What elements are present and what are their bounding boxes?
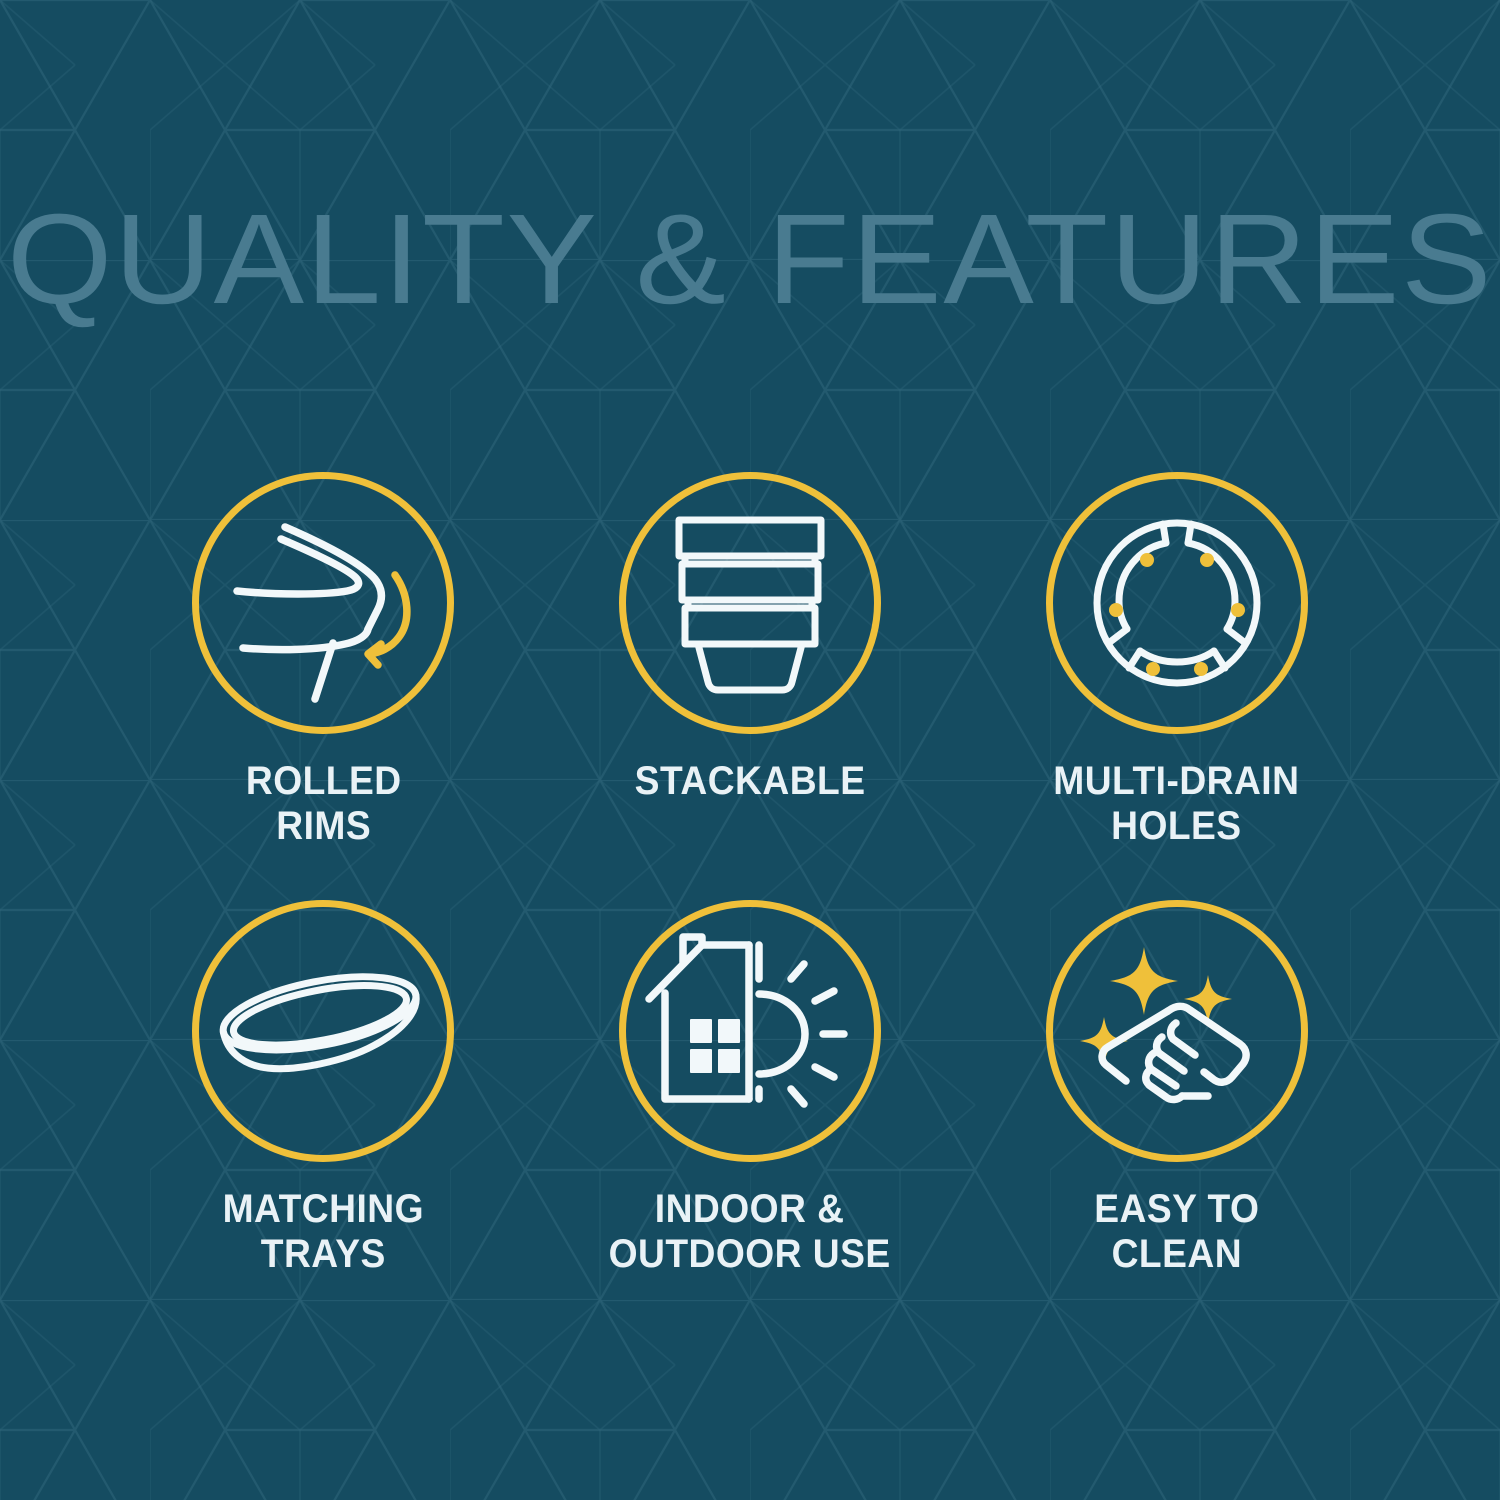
feature-ring-multi-drain-holes (1046, 472, 1308, 734)
feature-item-indoor-outdoor-use[interactable]: INDOOR & OUTDOOR USE (537, 900, 964, 1328)
feature-label-easy-to-clean: EASY TO CLEAN (1094, 1187, 1259, 1277)
feature-ring-indoor-outdoor-use (619, 900, 881, 1162)
stacked-pots-icon (650, 503, 850, 703)
feature-ring-easy-to-clean (1046, 900, 1308, 1162)
saucer-tray-icon (218, 931, 428, 1131)
feature-ring-stackable (619, 472, 881, 734)
feature-item-matching-trays[interactable]: MATCHING TRAYS (110, 900, 537, 1328)
feature-ring-matching-trays (192, 900, 454, 1162)
feature-item-easy-to-clean[interactable]: EASY TO CLEAN (963, 900, 1390, 1328)
feature-label-matching-trays: MATCHING TRAYS (223, 1187, 424, 1277)
title-block: QUALITY & FEATURES (0, 196, 1500, 324)
house-sun-icon (645, 931, 855, 1131)
feature-label-stackable: STACKABLE (635, 759, 866, 804)
wiping-hand-icon (1072, 931, 1282, 1131)
quality-and-features-infographic: QUALITY & FEATURES (0, 0, 1500, 1500)
page-title: QUALITY & FEATURES (0, 196, 1500, 324)
feature-label-multi-drain-holes: MULTI-DRAIN HOLES (1054, 759, 1300, 849)
feature-item-stackable[interactable]: STACKABLE (537, 472, 964, 900)
rolled-rim-icon (223, 503, 423, 703)
feature-item-multi-drain-holes[interactable]: MULTI-DRAIN HOLES (963, 472, 1390, 900)
feature-label-rolled-rims: ROLLED RIMS (245, 759, 401, 849)
drain-holes-icon (1077, 503, 1277, 703)
feature-item-rolled-rims[interactable]: ROLLED RIMS (110, 472, 537, 900)
feature-label-indoor-outdoor-use: INDOOR & OUTDOOR USE (609, 1187, 891, 1277)
feature-grid: ROLLED RIMS (110, 472, 1390, 1328)
feature-ring-rolled-rims (192, 472, 454, 734)
